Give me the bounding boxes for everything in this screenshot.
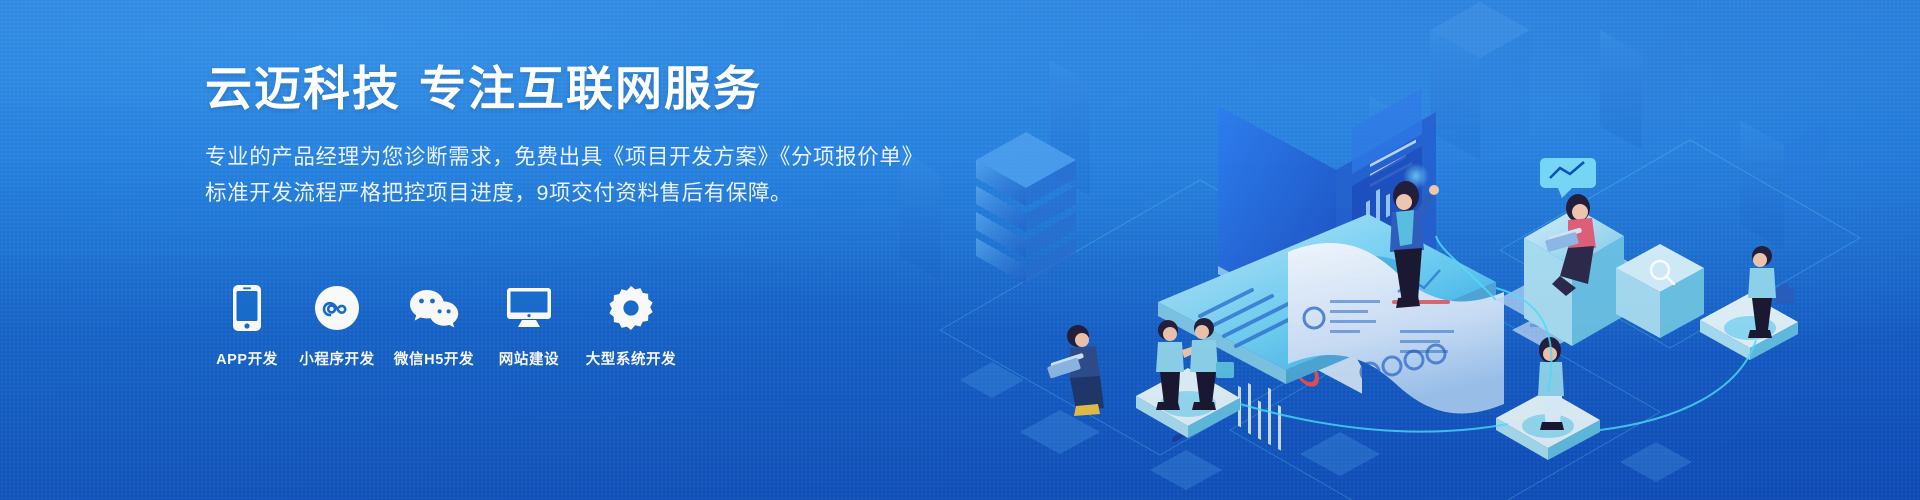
page-title: 云迈科技专注互联网服务 <box>205 62 925 117</box>
service-label: APP开发 <box>216 348 278 369</box>
mobile-phone-icon <box>232 282 262 334</box>
subtitle-line-1: 专业的产品经理为您诊断需求，免费出具《项目开发方案》《分项报价单》 <box>205 139 925 176</box>
monitor-icon <box>506 282 552 334</box>
woman-on-pedestal-laptop <box>1524 158 1624 346</box>
promo-banner: 云迈科技专注互联网服务 专业的产品经理为您诊断需求，免费出具《项目开发方案》《分… <box>0 0 1920 500</box>
service-item-mini-program[interactable]: 小程序开发 <box>289 282 385 369</box>
service-item-large-system[interactable]: 大型系统开发 <box>575 282 687 369</box>
subtitle-line-2: 标准开发流程严格把控项目进度，9项交付资料售后有保障。 <box>205 175 925 212</box>
chart-bubble <box>1540 158 1596 198</box>
mini-program-icon <box>314 282 360 334</box>
service-list: APP开发 小程序开发 <box>205 282 687 369</box>
service-item-wechat-h5[interactable]: 微信H5开发 <box>385 282 483 369</box>
service-item-app[interactable]: APP开发 <box>205 282 289 369</box>
service-label: 网站建设 <box>499 348 559 369</box>
server-stack <box>976 132 1076 284</box>
service-label: 微信H5开发 <box>394 348 474 369</box>
sitting-man-laptop <box>1047 325 1104 416</box>
banner-copy: 云迈科技专注互联网服务 专业的产品经理为您诊断需求，免费出具《项目开发方案》《分… <box>205 62 925 212</box>
title-part-2: 专注互联网服务 <box>419 62 762 115</box>
man-with-briefcase <box>1700 246 1798 360</box>
woman-standing-platform <box>1496 337 1600 460</box>
service-label: 大型系统开发 <box>586 348 677 369</box>
service-item-website[interactable]: 网站建设 <box>483 282 575 369</box>
banner-subtitle: 专业的产品经理为您诊断需求，免费出具《项目开发方案》《分项报价单》 标准开发流程… <box>205 139 925 213</box>
wechat-icon <box>408 282 460 334</box>
gear-icon <box>608 282 654 334</box>
isometric-tech-team-illustration <box>900 0 1920 500</box>
title-part-1: 云迈科技 <box>205 62 401 115</box>
search-cube-icon <box>1616 244 1704 338</box>
service-label: 小程序开发 <box>299 348 375 369</box>
